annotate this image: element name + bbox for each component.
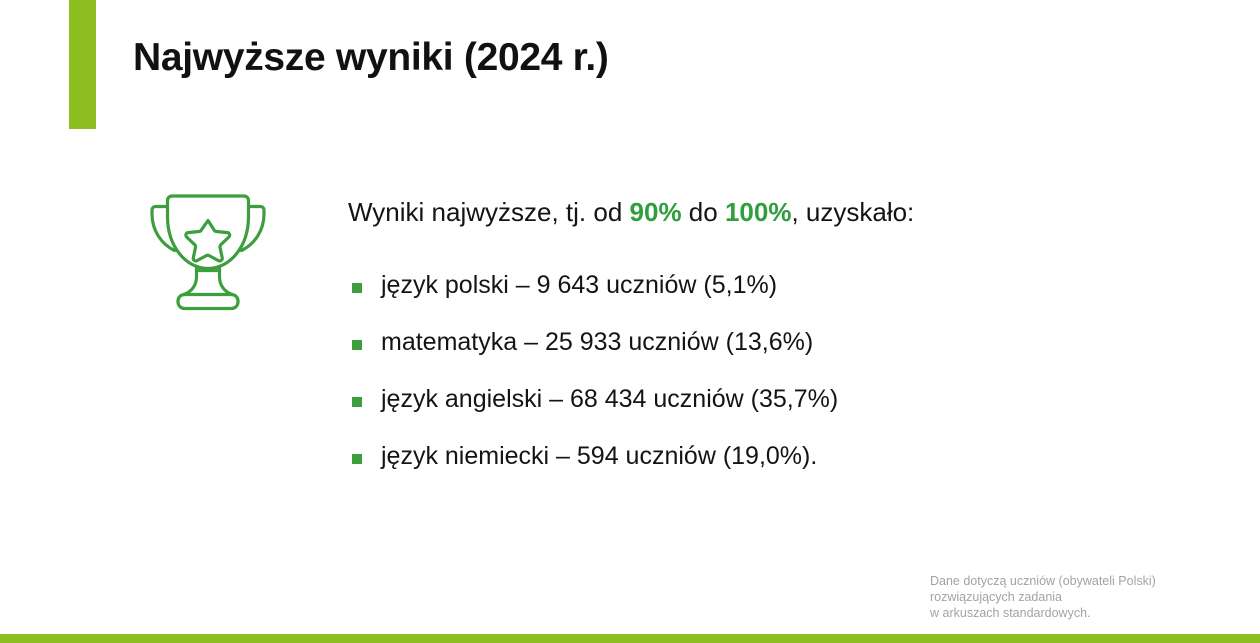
range-from-value: 90%: [630, 197, 682, 227]
intro-prefix: Wyniki najwyższe, tj. od: [348, 197, 630, 227]
footnote-line-2: rozwiązujących zadania: [930, 589, 1230, 605]
title-accent-bar: [69, 0, 96, 129]
range-to-value: 100%: [725, 197, 792, 227]
list-item: matematyka – 25 933 uczniów (13,6%): [352, 329, 1052, 386]
list-item: język polski – 9 643 uczniów (5,1%): [352, 272, 1052, 329]
intro-suffix: , uzyskało:: [791, 197, 914, 227]
footnote-line-3: w arkuszach standardowych.: [930, 605, 1230, 621]
list-item-label: język angielski – 68 434 uczniów (35,7%): [381, 386, 1052, 414]
trophy-icon: [143, 190, 273, 315]
bullet-square-icon: [352, 340, 362, 350]
footnote: Dane dotyczą uczniów (obywateli Polski) …: [930, 573, 1230, 621]
list-item-label: matematyka – 25 933 uczniów (13,6%): [381, 329, 1052, 357]
page-title: Najwyższe wyniki (2024 r.): [133, 36, 609, 80]
intro-line: Wyniki najwyższe, tj. od 90% do 100%, uz…: [348, 196, 1048, 229]
results-list: język polski – 9 643 uczniów (5,1%) mate…: [352, 272, 1052, 500]
bullet-square-icon: [352, 397, 362, 407]
bullet-square-icon: [352, 283, 362, 293]
bottom-accent-bar: [0, 634, 1260, 643]
bullet-square-icon: [352, 454, 362, 464]
list-item-label: język niemiecki – 594 uczniów (19,0%).: [381, 443, 1052, 471]
list-item: język angielski – 68 434 uczniów (35,7%): [352, 386, 1052, 443]
slide: Najwyższe wyniki (2024 r.) Wyniki najwyż…: [0, 0, 1260, 643]
list-item-label: język polski – 9 643 uczniów (5,1%): [381, 272, 1052, 300]
footnote-line-1: Dane dotyczą uczniów (obywateli Polski): [930, 573, 1230, 589]
content-block: Wyniki najwyższe, tj. od 90% do 100%, uz…: [348, 196, 1048, 229]
intro-middle: do: [682, 197, 725, 227]
list-item: język niemiecki – 594 uczniów (19,0%).: [352, 443, 1052, 500]
